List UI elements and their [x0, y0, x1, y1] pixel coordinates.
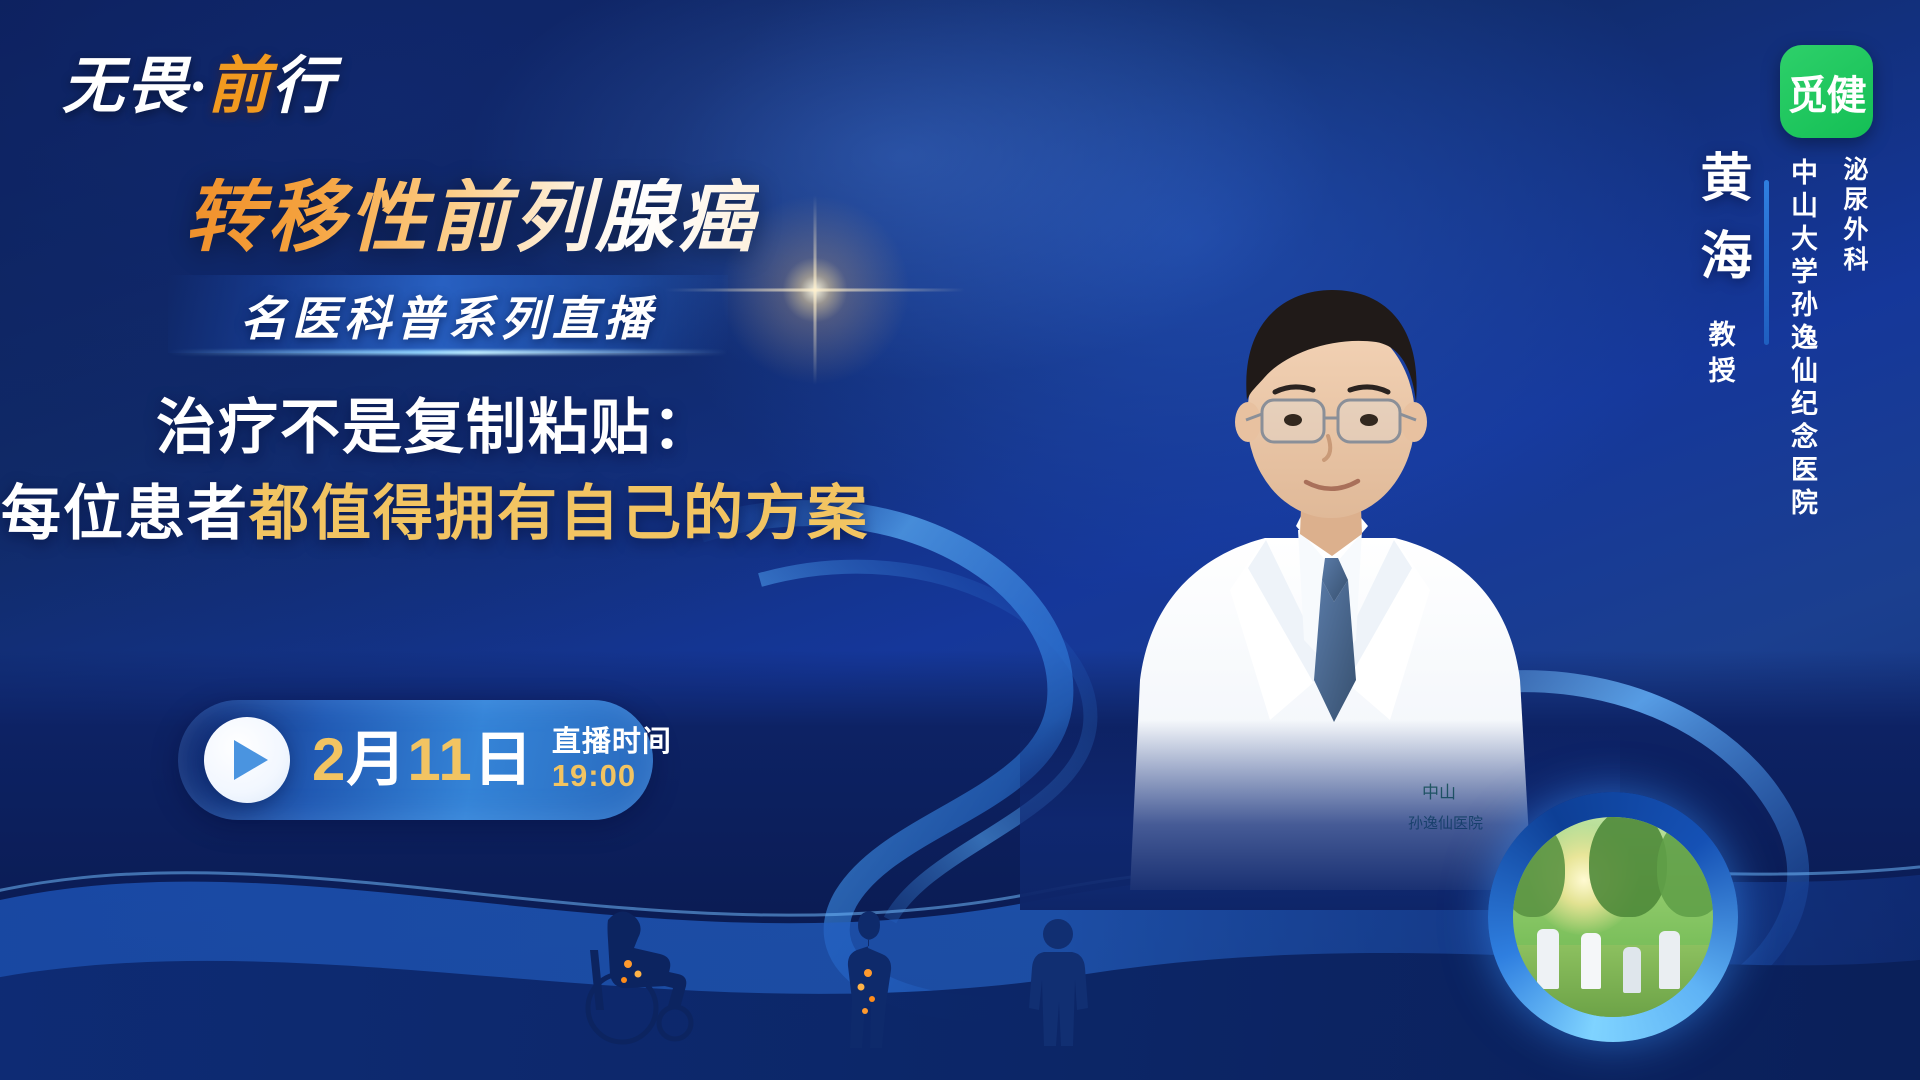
doctor-name: 黄海: [1690, 150, 1750, 306]
tree-shape: [1589, 817, 1667, 917]
schedule-pill[interactable]: 2月11日 直播时间 19:00: [178, 700, 653, 820]
play-icon[interactable]: [204, 717, 290, 803]
tagline-line-2-gold: 都值得拥有自己的方案: [249, 480, 869, 547]
subtitle-glow-line: [168, 350, 728, 355]
doctor-title: 教授: [1701, 320, 1740, 392]
broadcast-month-unit: 月: [346, 726, 407, 793]
broadcast-time-label: 直播时间: [552, 726, 672, 758]
person-figure: [1581, 933, 1601, 989]
family-walking-photo: [1513, 817, 1713, 1017]
series-logo-suffix: 行: [272, 53, 336, 121]
tagline: 治疗不是复制粘贴： 每位患者都值得拥有自己的方案: [0, 385, 870, 557]
doctor-department: 泌尿外科: [1836, 156, 1872, 276]
broadcast-day-unit: 日: [473, 726, 534, 793]
subtitle-band: 名医科普系列直播: [168, 275, 728, 353]
vertical-divider: [1764, 180, 1769, 345]
tagline-line-2-white: 每位患者: [1, 480, 249, 547]
broadcast-time-value: 19:00: [552, 759, 672, 794]
subtitle-text: 名医科普系列直播: [240, 280, 656, 349]
broadcast-month: 2: [312, 726, 346, 793]
doctor-organization: 中山大学孙逸仙纪念医院: [1783, 158, 1822, 521]
live-stream-poster: 无畏·前行 觅健 转移性前列腺癌 名医科普系列直播 治疗不是复制粘贴： 每位患者…: [0, 0, 1920, 1080]
brand-logo-badge[interactable]: 觅健: [1780, 45, 1873, 138]
tree-shape: [1657, 817, 1713, 917]
brand-logo-text: 觅健: [1788, 63, 1866, 121]
person-figure: [1659, 931, 1680, 989]
broadcast-date: 2月11日: [312, 730, 534, 790]
doctor-info: 黄海 教授 中山大学孙逸仙纪念医院 泌尿外科: [1690, 150, 1872, 521]
page-title: 转移性前列腺癌: [185, 178, 759, 256]
tagline-line-1: 治疗不是复制粘贴：: [0, 385, 870, 471]
series-logo: 无畏·前行: [62, 42, 372, 132]
person-figure: [1623, 947, 1641, 993]
doctor-name-column: 黄海 教授: [1690, 150, 1750, 392]
series-logo-highlight: 前: [208, 53, 272, 121]
play-triangle-icon: [234, 740, 268, 780]
series-logo-prefix: 无畏·: [62, 53, 208, 121]
person-figure: [1537, 929, 1559, 989]
broadcast-time-block: 直播时间 19:00: [552, 726, 672, 793]
family-photo-ring: [1488, 792, 1738, 1042]
broadcast-day: 11: [407, 726, 472, 793]
tagline-line-2: 每位患者都值得拥有自己的方案: [0, 471, 870, 557]
